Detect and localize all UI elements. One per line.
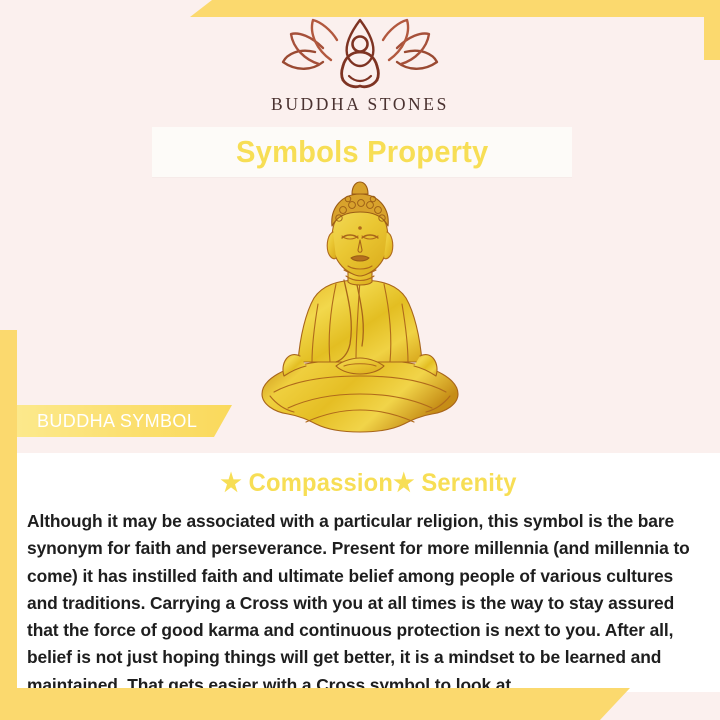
brand-logo: BUDDHA STONES [0,18,720,115]
content-paragraph: Although it may be associated with a par… [17,498,720,699]
content-panel: ★ Compassion★ Serenity Although it may b… [17,453,720,692]
decorative-frame-bottom [0,688,630,720]
page-title: Symbols Property [236,134,488,170]
golden-buddha-statue-icon [244,180,476,440]
brand-name: BUDDHA STONES [0,94,720,115]
title-banner: Symbols Property [152,127,572,177]
decorative-frame-left [0,330,17,720]
content-subtitle: ★ Compassion★ Serenity [35,453,703,498]
hero-image [0,178,720,440]
symbol-ribbon: BUDDHA SYMBOL [17,405,232,437]
decorative-frame-top [190,0,720,17]
decorative-frame-right [704,0,720,60]
lotus-meditation-icon [275,18,445,90]
symbol-ribbon-label: BUDDHA SYMBOL [17,411,197,432]
poster-root: BUDDHA STONES Symbols Property [0,0,720,720]
